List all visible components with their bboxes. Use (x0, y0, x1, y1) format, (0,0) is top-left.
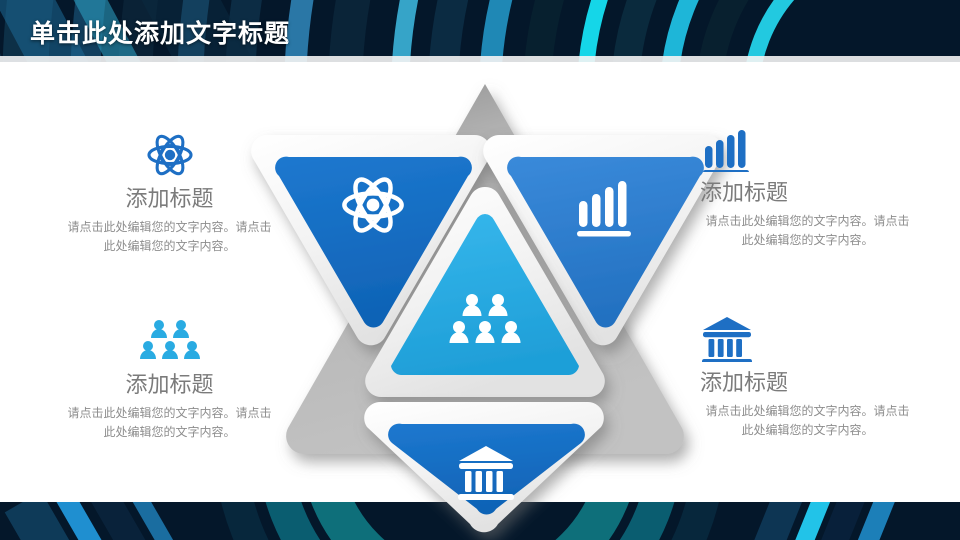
bank-icon (700, 316, 915, 362)
block-title: 添加标题 (700, 180, 915, 205)
info-block-bottom-right[interactable]: 添加标题 请点击此处编辑您的文字内容。请点击此处编辑您的文字内容。 (700, 316, 915, 439)
node-bottom (364, 402, 604, 532)
page-title: 单击此处添加文字标题 (30, 14, 290, 50)
block-title: 添加标题 (62, 372, 277, 397)
atom-icon (62, 132, 277, 178)
block-body: 请点击此处编辑您的文字内容。请点击此处编辑您的文字内容。 (700, 402, 915, 439)
info-block-bottom-left[interactable]: 添加标题 请点击此处编辑您的文字内容。请点击此处编辑您的文字内容。 (62, 318, 277, 441)
slide-canvas: 单击此处添加文字标题 (0, 0, 960, 540)
block-title: 添加标题 (700, 370, 915, 395)
people-icon (62, 318, 277, 364)
triangle-infographic (250, 72, 720, 540)
info-block-top-left[interactable]: 添加标题 请点击此处编辑您的文字内容。请点击此处编辑您的文字内容。 (62, 132, 277, 255)
block-body: 请点击此处编辑您的文字内容。请点击此处编辑您的文字内容。 (700, 212, 915, 249)
info-block-top-right[interactable]: 添加标题 请点击此处编辑您的文字内容。请点击此处编辑您的文字内容。 (700, 126, 915, 249)
block-body: 请点击此处编辑您的文字内容。请点击此处编辑您的文字内容。 (62, 404, 277, 441)
block-body: 请点击此处编辑您的文字内容。请点击此处编辑您的文字内容。 (62, 218, 277, 255)
block-title: 添加标题 (62, 186, 277, 211)
bar-chart-icon (700, 126, 915, 172)
